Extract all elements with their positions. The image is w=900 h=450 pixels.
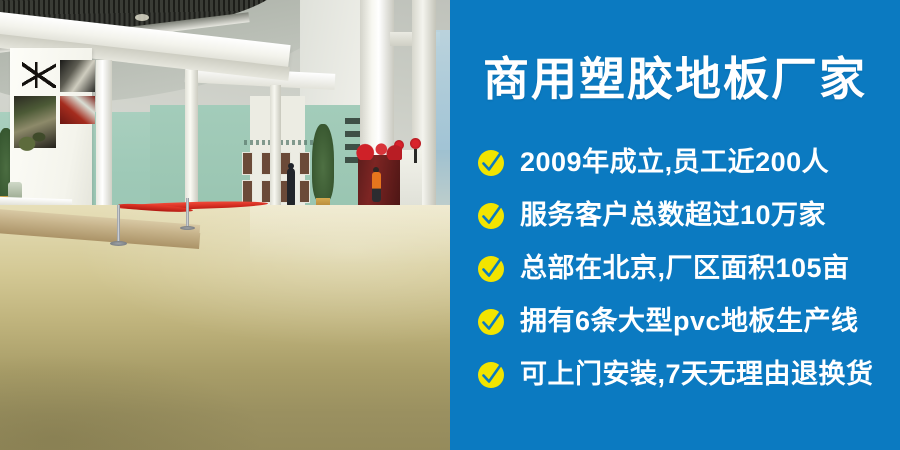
rope-stanchion [117, 205, 120, 243]
rope-stanchion [186, 198, 189, 228]
feature-item-3: 总部在北京,厂区面积105亩 [476, 242, 900, 295]
feature-label: 2009年成立,员工近200人 [520, 149, 829, 176]
poster-plant-graphic [15, 120, 55, 154]
visitor-figure [372, 172, 381, 202]
rope-stanchion-base [180, 226, 195, 230]
promo-banner: 商用塑胶地板厂家 2009年成立,员工近200人 [0, 0, 900, 450]
info-panel: 商用塑胶地板厂家 2009年成立,员工近200人 [450, 0, 900, 450]
floor-reflection [250, 205, 450, 265]
feature-label: 总部在北京,厂区面积105亩 [520, 255, 850, 282]
visitor-figure [287, 168, 295, 206]
pavilion-column [270, 85, 281, 220]
poster-photo [60, 96, 95, 124]
feature-label: 服务客户总数超过10万家 [520, 202, 826, 229]
panel-title: 商用塑胶地板厂家 [450, 54, 900, 105]
feature-item-2: 服务客户总数超过10万家 [476, 189, 900, 242]
poster-photo [60, 60, 95, 92]
feature-list: 2009年成立,员工近200人 服务客户总数超过10万家 [476, 136, 900, 401]
rope-stanchion-base [110, 241, 127, 246]
feature-item-4: 拥有6条大型pvc地板生产线 [476, 295, 900, 348]
wall-frame [242, 180, 253, 203]
red-flower [356, 142, 402, 160]
feature-label: 可上门安装,7天无理由退换货 [520, 361, 874, 388]
flower-vase [414, 149, 417, 163]
ceiling-spotlight [135, 14, 149, 21]
wall-frame [299, 152, 310, 175]
check-circle-icon [476, 307, 506, 337]
feature-label: 拥有6条大型pvc地板生产线 [520, 308, 859, 335]
feature-item-5: 可上门安装,7天无理由退换货 [476, 348, 900, 401]
calligraphy-text [22, 62, 56, 88]
check-circle-icon [476, 148, 506, 178]
check-circle-icon [476, 360, 506, 390]
check-circle-icon [476, 201, 506, 231]
wall-frame [299, 180, 310, 203]
check-circle-icon [476, 254, 506, 284]
showroom-photo [0, 0, 450, 450]
window-glass [436, 30, 450, 230]
feature-item-1: 2009年成立,员工近200人 [476, 136, 900, 189]
topiary-plant [312, 124, 334, 202]
wall-frame [242, 152, 253, 175]
red-flower [410, 138, 421, 149]
